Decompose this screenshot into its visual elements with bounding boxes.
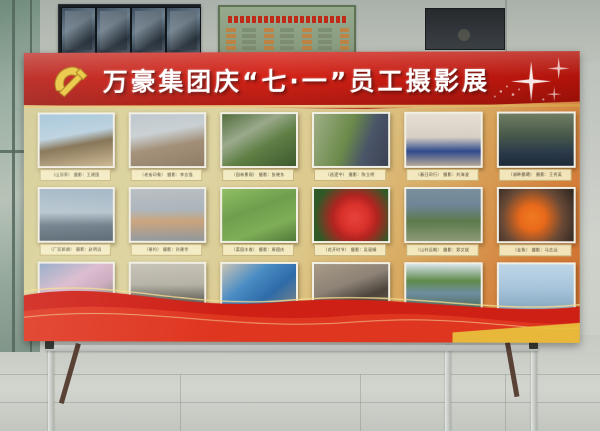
photo-caption: （垂钓） 摄影：孙建华 [131,244,203,256]
notice-row [226,40,349,44]
photo-cell[interactable]: （金鱼） 摄影：马志远 [497,187,572,260]
exhibit-photo[interactable] [404,187,483,243]
exhibit-photo[interactable] [312,112,390,168]
notice-board-header [228,16,348,23]
photo-caption: （金鱼） 摄影：马志远 [499,244,572,256]
monitor-screen [131,7,166,54]
cpc-hammer-sickle-emblem [48,60,93,104]
photo-cell[interactable]: （老街印象） 摄影：李志强 [129,112,203,185]
photo-caption: （春日同行） 摄影：刘海波 [406,169,478,181]
exhibit-photo[interactable] [404,112,483,168]
exhibit-photo[interactable] [497,187,576,243]
stand-leg [531,339,537,431]
monitor-screen [61,7,96,54]
photo-caption: （巡逻中） 摄影：陈立明 [314,169,386,181]
monitor-screen [166,7,201,54]
green-notice-board [218,5,356,57]
notice-row [226,28,349,32]
surveillance-monitor-wall [58,4,201,55]
dark-wall-cabinet [425,8,505,50]
tile-line [505,374,506,431]
tile-line [180,374,181,431]
photo-caption: （山村远眺） 摄影：郑文斌 [406,244,478,256]
notice-row [226,46,349,50]
stand-leg [445,345,451,431]
exhibit-photo[interactable] [129,187,207,243]
photo-row: （山顶亭） 摄影：王建国 （老街印象） 摄影：李志强 （园林景观） 摄影：张晓东… [38,111,570,186]
exhibit-photo[interactable] [497,111,576,167]
exhibit-photo[interactable] [312,187,390,243]
exhibit-photo[interactable] [129,112,207,168]
photo-cell[interactable]: （花开时节） 摄影：吴丽娟 [312,187,386,260]
photo-cell[interactable]: （山顶亭） 摄影：王建国 [38,112,111,185]
monitor-screen [96,7,131,54]
photo-caption: （厂区新貌） 摄影：赵明远 [40,244,111,256]
photo-caption: （园林景观） 摄影：张晓东 [222,169,294,181]
cabinet-knob [458,29,470,41]
tile-line [0,402,600,403]
photo-cell[interactable]: （菜园丰收） 摄影：周国庆 [220,187,294,260]
photo-caption: （山顶亭） 摄影：王建国 [40,169,111,181]
notice-row [226,34,349,38]
tile-line [360,374,361,431]
red-swoosh-decoration [24,272,580,343]
exhibition-scene: 万豪集团庆“七·一”员工摄影展 [0,0,600,431]
photo-caption: （花开时节） 摄影：吴丽娟 [314,244,386,256]
photo-cell[interactable]: （春日同行） 摄影：刘海波 [404,112,478,185]
exhibition-board[interactable]: 万豪集团庆“七·一”员工摄影展 [24,51,580,343]
mullion-vertical-1 [12,0,15,352]
page-title: 万豪集团庆“七·一”员工摄影展 [103,61,490,102]
photo-cell[interactable]: （巡逻中） 摄影：陈立明 [312,112,386,185]
stand-leg [48,339,54,431]
exhibit-photo[interactable] [38,187,115,243]
photo-caption: （湖畔晨曦） 摄影：王秀英 [499,169,572,181]
exhibit-photo[interactable] [220,187,298,243]
photo-cell[interactable]: （园林景观） 摄影：张晓东 [220,112,294,185]
exhibit-photo[interactable] [38,112,115,168]
photo-row: （厂区新貌） 摄影：赵明远 （垂钓） 摄影：孙建华 （菜园丰收） 摄影：周国庆 … [38,187,570,261]
photo-cell[interactable]: （湖畔晨曦） 摄影：王秀英 [497,111,572,184]
stand-crossbar [46,345,538,351]
notice-board-rows [226,28,349,51]
photo-cell[interactable]: （山村远眺） 摄影：郑文斌 [404,187,478,260]
photo-caption: （老街印象） 摄影：李志强 [131,169,203,181]
exhibit-photo[interactable] [220,112,298,168]
photo-caption: （菜园丰收） 摄影：周国庆 [222,244,294,256]
photo-cell[interactable]: （厂区新貌） 摄影：赵明远 [38,187,111,260]
photo-cell[interactable]: （垂钓） 摄影：孙建华 [129,187,203,260]
